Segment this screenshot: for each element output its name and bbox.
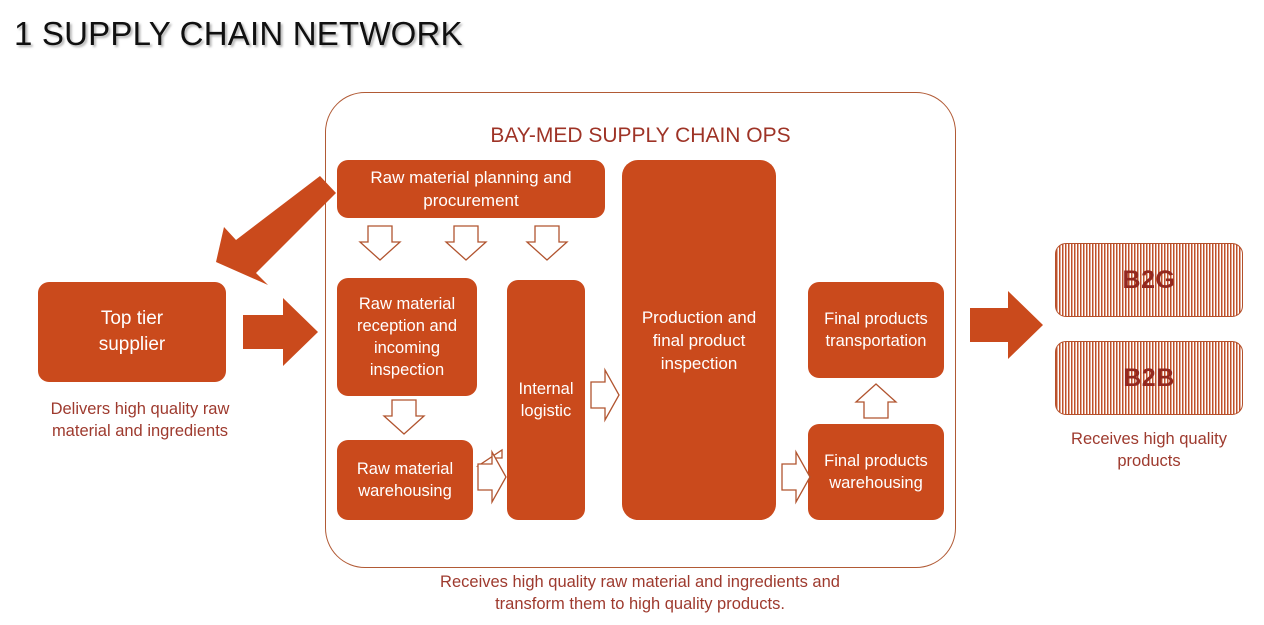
final-products-warehousing-label: Final products warehousing [824, 450, 928, 494]
internal-logistic-box[interactable]: Internal logistic [507, 280, 585, 520]
ops-caption: Receives high quality raw material and i… [366, 571, 914, 615]
supply-chain-ops-title: BAY-MED SUPPLY CHAIN OPS [325, 124, 956, 148]
ops-to-supplier-arrow [216, 176, 336, 285]
ops-to-customers-arrow [970, 291, 1043, 359]
production-inspection-box[interactable]: Production and final product inspection [622, 160, 776, 520]
b2b-label: B2B [1123, 364, 1175, 393]
raw-material-warehousing-label: Raw material warehousing [357, 458, 453, 502]
internal-logistic-label: Internal logistic [518, 378, 573, 422]
final-products-transportation-box[interactable]: Final products transportation [808, 282, 944, 378]
production-inspection-label: Production and final product inspection [642, 306, 756, 375]
page-title: 1 SUPPLY CHAIN NETWORK [14, 14, 463, 54]
top-tier-supplier-box[interactable]: Top tier supplier [38, 282, 226, 382]
top-tier-supplier-label: Top tier supplier [99, 306, 166, 358]
customers-caption: Receives high quality products [1040, 428, 1258, 472]
raw-material-reception-label: Raw material reception and incoming insp… [357, 293, 457, 381]
b2g-label: B2G [1123, 266, 1176, 295]
supplier-to-ops-arrow [243, 298, 318, 366]
raw-material-reception-box[interactable]: Raw material reception and incoming insp… [337, 278, 477, 396]
raw-material-planning-box[interactable]: Raw material planning and procurement [337, 160, 605, 218]
b2b-box[interactable]: B2B [1055, 341, 1243, 415]
b2g-box[interactable]: B2G [1055, 243, 1243, 317]
raw-material-planning-label: Raw material planning and procurement [370, 166, 571, 212]
supplier-caption: Delivers high quality raw material and i… [20, 398, 260, 442]
final-products-transportation-label: Final products transportation [824, 308, 928, 352]
raw-material-warehousing-box[interactable]: Raw material warehousing [337, 440, 473, 520]
final-products-warehousing-box[interactable]: Final products warehousing [808, 424, 944, 520]
